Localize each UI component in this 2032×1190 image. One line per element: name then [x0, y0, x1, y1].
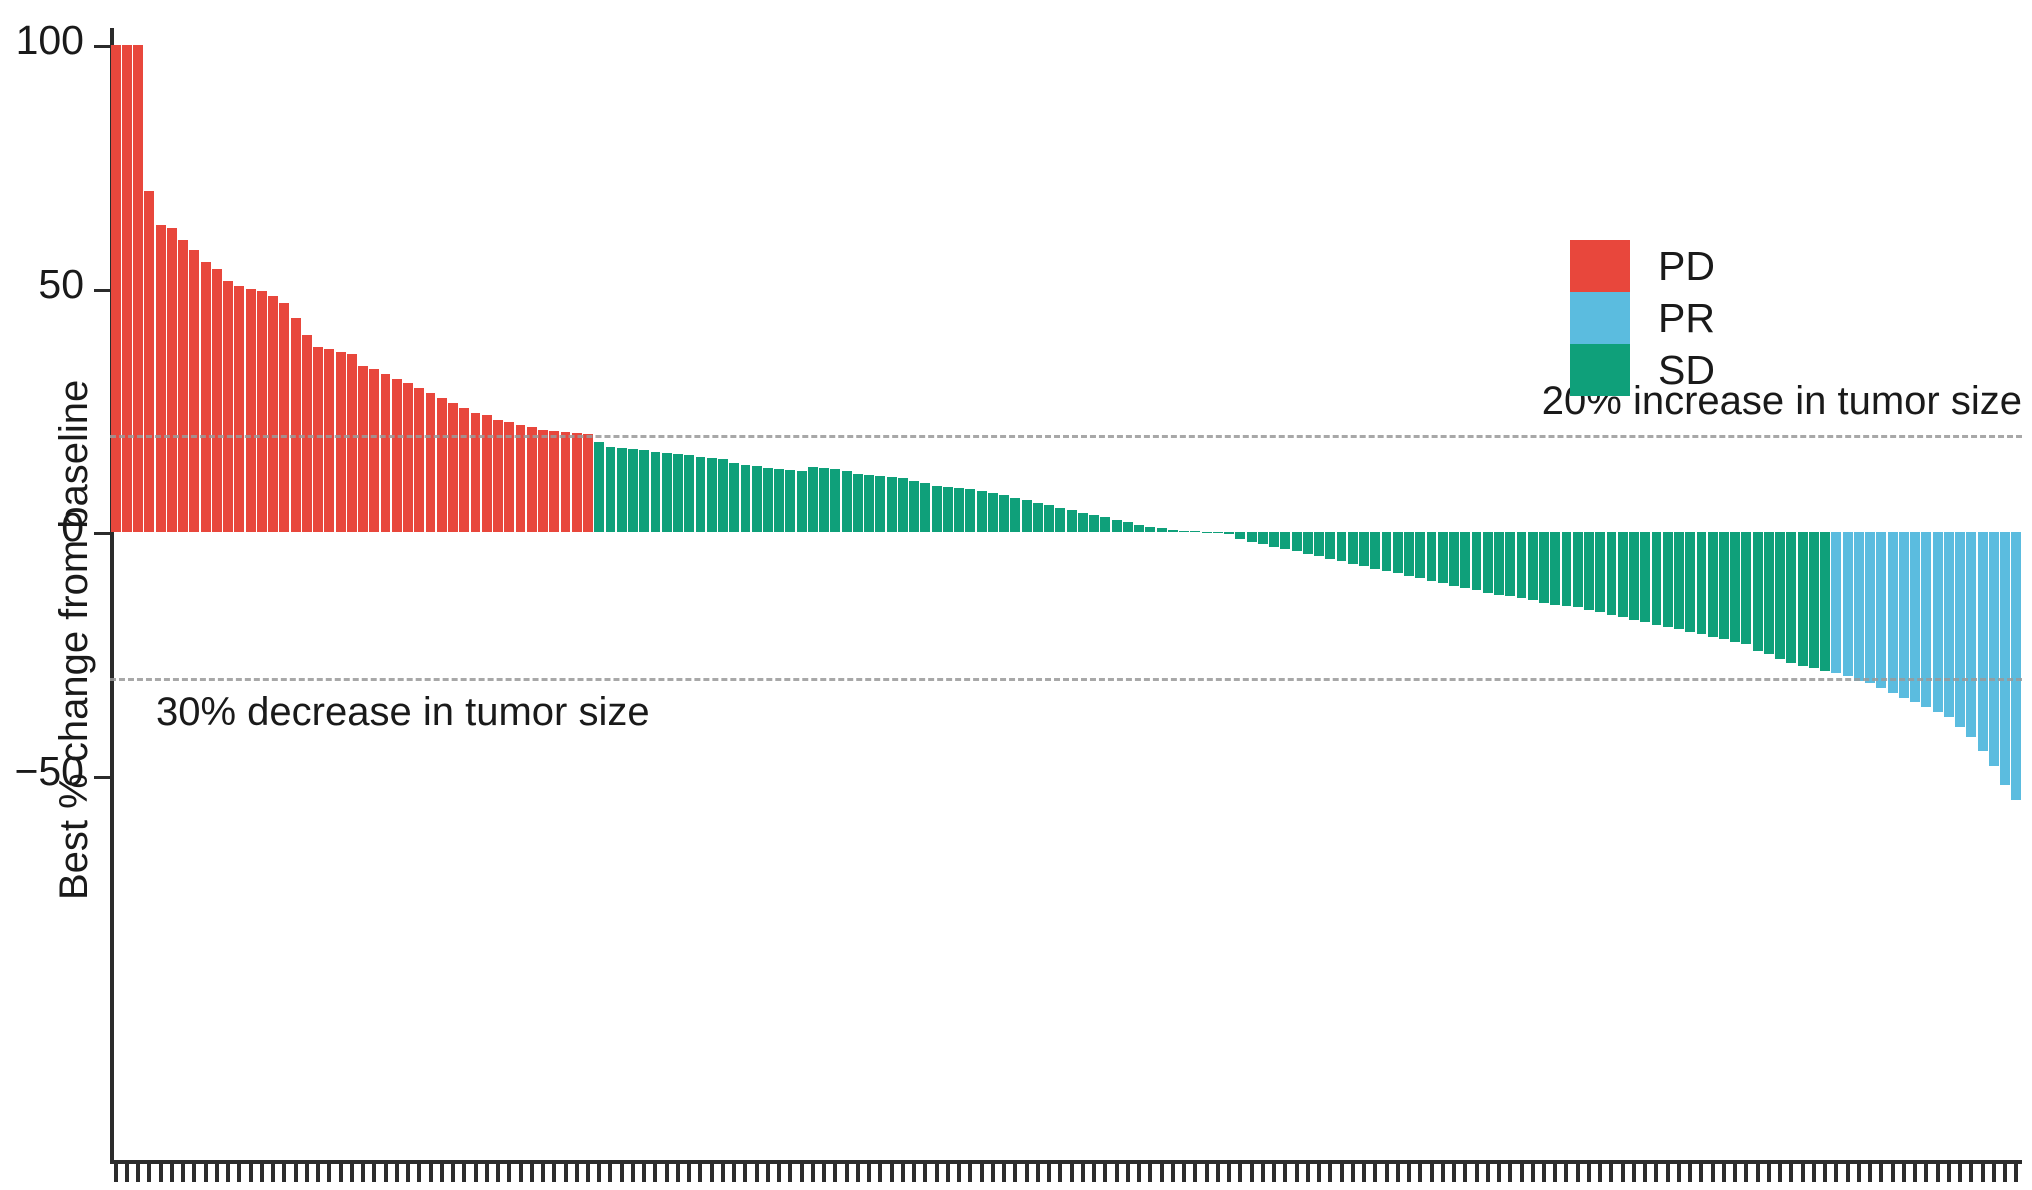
reference-line	[110, 678, 2022, 681]
bar	[1258, 532, 1268, 544]
bar	[1786, 532, 1796, 663]
legend-swatch-pr	[1570, 292, 1630, 344]
bar	[707, 458, 717, 532]
bar	[1550, 532, 1560, 605]
bar	[1157, 528, 1167, 532]
bar	[1067, 510, 1077, 532]
bar	[1449, 532, 1459, 586]
bar	[403, 383, 413, 532]
bar	[774, 469, 784, 532]
bar	[1843, 532, 1853, 676]
bar	[1899, 532, 1909, 698]
bar	[594, 442, 604, 532]
bar	[1134, 525, 1144, 532]
bar	[1033, 503, 1043, 532]
bar	[1190, 531, 1200, 532]
bar	[1809, 532, 1819, 668]
bar	[741, 465, 751, 532]
bar	[2011, 532, 2021, 800]
bar	[1820, 532, 1830, 671]
bar	[898, 478, 908, 532]
bar	[1978, 532, 1988, 751]
bar	[1427, 532, 1437, 581]
bar	[965, 489, 975, 532]
bar	[1539, 532, 1549, 603]
bar	[583, 434, 593, 532]
legend-swatch-pd	[1570, 240, 1630, 292]
reference-line	[110, 435, 2022, 438]
bar	[1022, 500, 1032, 532]
bar	[1685, 532, 1695, 632]
legend-label-pd: PD	[1658, 246, 1715, 287]
bar	[1010, 498, 1020, 532]
bar	[516, 425, 526, 532]
bar	[504, 422, 514, 532]
bar	[1247, 532, 1257, 542]
bar	[201, 262, 211, 532]
bar	[1989, 532, 1999, 766]
bar	[1213, 532, 1223, 533]
bar	[1168, 530, 1178, 532]
bar	[819, 468, 829, 532]
bar	[1055, 508, 1065, 532]
bar	[1348, 532, 1358, 564]
bar	[1438, 532, 1448, 583]
bar	[1472, 532, 1482, 590]
bar	[785, 470, 795, 532]
bar	[1370, 532, 1380, 569]
bar	[471, 413, 481, 532]
bar	[1831, 532, 1841, 673]
bar	[718, 459, 728, 532]
legend: PD PR SD	[1570, 240, 1715, 396]
bar	[369, 369, 379, 532]
bar	[639, 450, 649, 532]
bar	[1708, 532, 1718, 637]
bar	[651, 452, 661, 532]
bar	[426, 393, 436, 532]
bar	[1764, 532, 1774, 654]
bar	[864, 475, 874, 532]
bar	[111, 45, 121, 532]
bar	[1123, 522, 1133, 532]
bar	[920, 483, 930, 532]
bar	[887, 477, 897, 532]
bar	[1663, 532, 1673, 627]
bar	[617, 448, 627, 532]
bar	[1382, 532, 1392, 571]
bar	[144, 191, 154, 532]
bar	[999, 495, 1009, 532]
bar	[1640, 532, 1650, 622]
bar	[1202, 532, 1212, 533]
bar	[909, 481, 919, 532]
legend-label-pr: PR	[1658, 298, 1715, 339]
bar	[1629, 532, 1639, 620]
bar	[189, 250, 199, 532]
bar	[538, 430, 548, 532]
bar	[1517, 532, 1527, 598]
bar	[1325, 532, 1335, 559]
bar	[1483, 532, 1493, 593]
bar	[932, 486, 942, 532]
bar	[977, 491, 987, 532]
bar	[954, 488, 964, 532]
bar	[459, 408, 469, 532]
bar	[684, 455, 694, 532]
bar	[1280, 532, 1290, 549]
bar	[302, 335, 312, 532]
bar	[223, 281, 233, 532]
bar	[572, 433, 582, 532]
bar	[1303, 532, 1313, 554]
bar	[1145, 527, 1155, 532]
bar	[414, 388, 424, 532]
bar	[257, 291, 267, 532]
bar	[1393, 532, 1403, 573]
bar	[1235, 532, 1245, 539]
bar	[875, 476, 885, 532]
bar	[1112, 520, 1122, 532]
bar	[2000, 532, 2010, 785]
bar	[246, 289, 256, 533]
bar	[291, 318, 301, 532]
bar	[1876, 532, 1886, 688]
bar	[1404, 532, 1414, 576]
bar	[268, 296, 278, 532]
bar	[482, 415, 492, 532]
bar	[1730, 532, 1740, 642]
bar	[696, 457, 706, 532]
bar	[448, 403, 458, 532]
bar	[1741, 532, 1751, 644]
bar	[1753, 532, 1763, 651]
bar	[1269, 532, 1279, 547]
bar	[313, 347, 323, 532]
bar	[1415, 532, 1425, 578]
bar	[1528, 532, 1538, 600]
bar	[662, 453, 672, 532]
bar	[1944, 532, 1954, 717]
bar	[1798, 532, 1808, 666]
bar	[1719, 532, 1729, 639]
bar	[1292, 532, 1302, 551]
bar	[1505, 532, 1515, 596]
bar	[1933, 532, 1943, 712]
bar	[358, 366, 368, 532]
legend-item-sd[interactable]: SD	[1570, 344, 1715, 396]
bar	[808, 467, 818, 532]
bar	[1697, 532, 1707, 634]
bar	[1314, 532, 1324, 556]
bar	[1562, 532, 1572, 606]
bar	[1224, 532, 1234, 534]
bar	[763, 468, 773, 532]
bar	[1044, 505, 1054, 532]
bar	[1494, 532, 1504, 595]
bar	[178, 240, 188, 532]
bar	[1100, 517, 1110, 532]
bar	[943, 487, 953, 532]
bar	[234, 286, 244, 532]
bar-series	[0, 0, 2032, 1190]
bar	[1888, 532, 1898, 693]
bar	[1652, 532, 1662, 625]
bar	[212, 269, 222, 532]
bar	[1775, 532, 1785, 659]
bar	[1460, 532, 1470, 588]
bar	[853, 474, 863, 532]
bar	[1089, 515, 1099, 532]
bar	[1674, 532, 1684, 629]
bar	[167, 228, 177, 532]
bar	[279, 303, 289, 532]
legend-item-pd[interactable]: PD	[1570, 240, 1715, 292]
bar	[673, 454, 683, 532]
bar	[1573, 532, 1583, 607]
legend-label-sd: SD	[1658, 350, 1715, 391]
bar	[1337, 532, 1347, 561]
bar	[1955, 532, 1965, 727]
bar	[729, 463, 739, 532]
bar	[830, 469, 840, 532]
legend-item-pr[interactable]: PR	[1570, 292, 1715, 344]
bar	[1179, 531, 1189, 532]
bar	[842, 471, 852, 532]
bar	[1854, 532, 1864, 681]
bar	[1359, 532, 1369, 566]
bar	[1618, 532, 1628, 617]
bar	[549, 431, 559, 532]
bar	[381, 374, 391, 532]
bar	[1584, 532, 1594, 610]
bar	[122, 45, 132, 532]
bar	[336, 352, 346, 532]
bar	[1865, 532, 1875, 683]
bar	[1607, 532, 1617, 615]
bar	[797, 471, 807, 532]
bar	[988, 493, 998, 532]
bar	[1966, 532, 1976, 737]
bar	[156, 225, 166, 532]
bar	[752, 466, 762, 532]
bar	[324, 349, 334, 532]
bar	[527, 427, 537, 532]
bar	[561, 432, 571, 532]
bar	[392, 379, 402, 532]
bar	[1595, 532, 1605, 612]
annotation-decrease: 30% decrease in tumor size	[156, 690, 650, 735]
legend-swatch-sd	[1570, 344, 1630, 396]
plot-area: Best % change from baseline 100500−50 20…	[0, 0, 2032, 1190]
waterfall-chart-figure: Best % change from baseline 100500−50 20…	[0, 0, 2032, 1190]
bar	[628, 449, 638, 532]
bar	[1910, 532, 1920, 702]
bar	[437, 398, 447, 532]
bar	[133, 45, 143, 532]
bar	[606, 447, 616, 532]
bar	[347, 354, 357, 532]
bar	[1078, 513, 1088, 532]
